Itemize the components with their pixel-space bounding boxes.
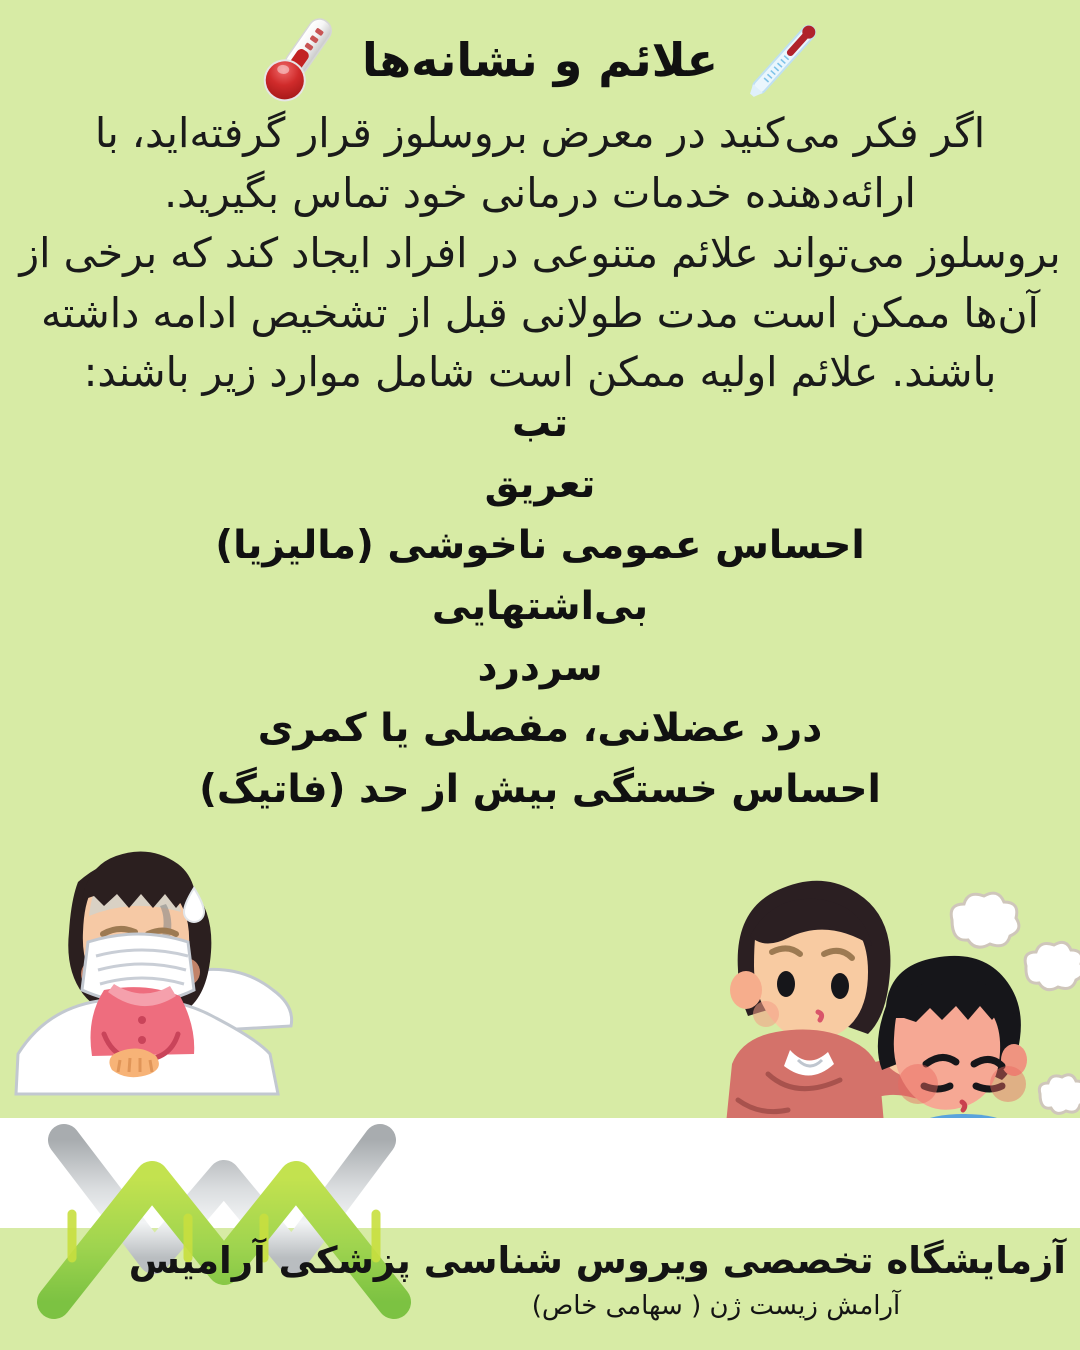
header-title-row: علائم و نشانه‌ها xyxy=(0,10,1080,110)
symptom-item: احساس خستگی بیش از حد (فاتیگ) xyxy=(0,770,1080,809)
intro-paragraph-1: اگر فکر می‌کنید در معرض بروسلوز قرار گرف… xyxy=(18,104,1062,224)
symptom-item: احساس عمومی ناخوشی (مالیزیا) xyxy=(0,526,1080,565)
page-title: علائم و نشانه‌ها xyxy=(362,37,718,83)
aramis-chevron-logo xyxy=(24,1118,424,1333)
steam-puff xyxy=(1039,1075,1080,1114)
symptom-item: سردرد xyxy=(0,648,1080,687)
symptom-list: تب تعریق احساس عمومی ناخوشی (مالیزیا) بی… xyxy=(0,404,1080,831)
clinical-thermometer-icon xyxy=(728,10,838,110)
thermometer-bulb-icon xyxy=(242,10,352,110)
steam-puff xyxy=(951,893,1019,947)
symptom-item: تب xyxy=(0,404,1080,443)
poster-root: علائم و نشانه‌ها xyxy=(0,0,1080,1350)
symptom-item: تعریق xyxy=(0,465,1080,504)
intro-paragraph-2: بروسلوز می‌تواند علائم متنوعی در افراد ا… xyxy=(18,224,1062,404)
intro-body-text: اگر فکر می‌کنید در معرض بروسلوز قرار گرف… xyxy=(18,104,1062,403)
mother-and-feverish-boy-illustration xyxy=(720,878,1080,1128)
symptom-item: بی‌اشتهایی xyxy=(0,587,1080,626)
sick-woman-in-bed-illustration xyxy=(8,822,338,1122)
company-name: آرامش زیست ژن ( سهامی خاص) xyxy=(366,1291,1066,1322)
lab-name: آزمایشگاه تخصصی ویروس شناسی پزشکی آرامیس xyxy=(366,1240,1066,1283)
symptom-item: درد عضلانی، مفصلی یا کمری xyxy=(0,709,1080,748)
steam-puff xyxy=(1025,942,1080,989)
footer-branding: آزمایشگاه تخصصی ویروس شناسی پزشکی آرامیس… xyxy=(366,1240,1066,1322)
